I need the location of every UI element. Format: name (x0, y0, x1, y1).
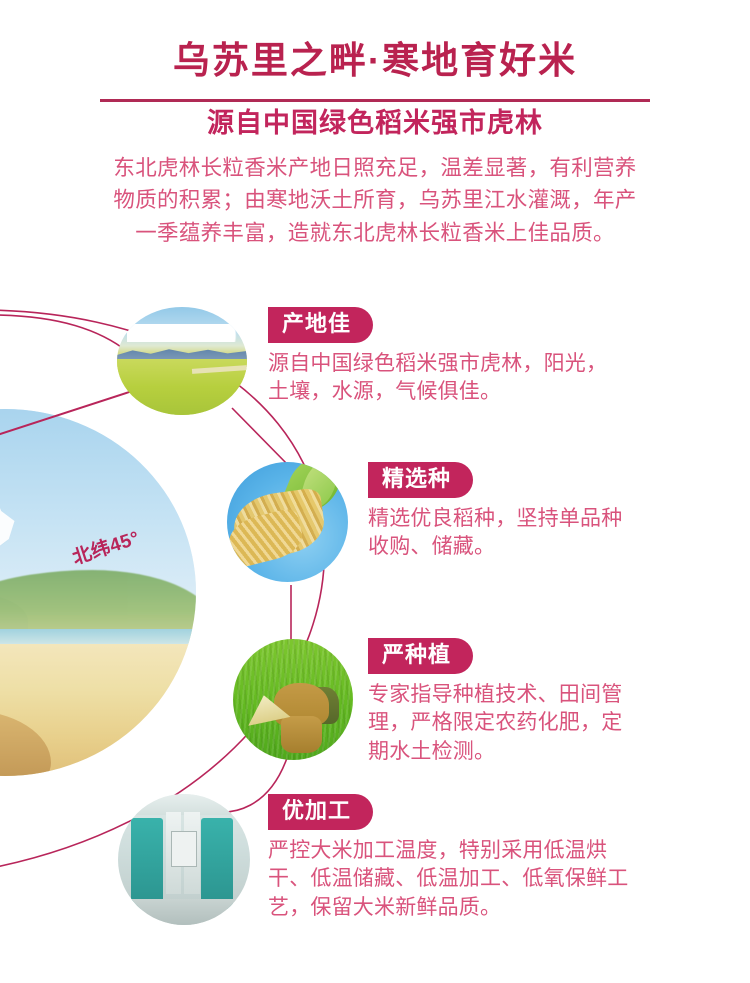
connector-photo1-photo2 (232, 408, 290, 467)
feature-badge-planting: 严种植 (368, 638, 473, 674)
feature-badge-origin: 产地佳 (268, 307, 373, 343)
feature-block-seed: 精选种 精选优良稻种，坚持单品种 收购、储藏。 (368, 462, 622, 562)
intro-line-2: 物质的积累；由寒地沃土所育，乌苏里江水灌溉，年产 (58, 184, 692, 217)
page-subtitle: 源自中国绿色稻米强市虎林 (0, 101, 750, 140)
title-divider (100, 99, 650, 102)
photo-rice-ear (227, 462, 348, 582)
page-title: 乌苏里之畔·寒地育好米 (0, 40, 750, 83)
floor-layer (118, 899, 250, 925)
header-section: 乌苏里之畔·寒地育好米 源自中国绿色稻米强市虎林 东北虎林长粒香米产地日照充足，… (0, 0, 750, 250)
feature-text-line: 艺，保留大米新鲜品质。 (268, 894, 628, 923)
feature-text-line: 严控大米加工温度，特别采用低温烘 (268, 837, 628, 866)
feature-block-planting: 严种植 专家指导种植技术、田间管 理，严格限定农药化肥，定 期水土检测。 (368, 638, 622, 766)
product-detail-page: 乌苏里之畔·寒地育好米 源自中国绿色稻米强市虎林 东北虎林长粒香米产地日照充足，… (0, 0, 750, 983)
photo-rice-paddy-landscape (117, 307, 247, 415)
intro-line-3: 一季蕴养丰富，造就东北虎林长粒香米上佳品质。 (58, 217, 692, 250)
feature-badge-processing: 优加工 (268, 794, 373, 830)
feature-text-seed: 精选优良稻种，坚持单品种 收购、储藏。 (368, 505, 622, 562)
machine-column-2 (201, 818, 233, 910)
arc-spur-to-photo-1 (0, 315, 128, 352)
feature-text-line: 期水土检测。 (368, 738, 622, 767)
intro-line-1: 东北虎林长粒香米产地日照充足，温差显著，有利营养 (58, 152, 692, 185)
farmer-legs (281, 716, 322, 752)
photo-farmer-planting (233, 639, 353, 760)
feature-block-origin: 产地佳 源自中国绿色稻米强市虎林，阳光， 土壤，水源，气候俱佳。 (268, 307, 607, 407)
feature-text-line: 土壤，水源，气候俱佳。 (268, 378, 607, 407)
feature-text-line: 收购、储藏。 (368, 533, 622, 562)
feature-text-line: 源自中国绿色稻米强市虎林，阳光， (268, 350, 607, 379)
photo-processing-machinery (118, 794, 250, 925)
feature-block-processing: 优加工 严控大米加工温度，特别采用低温烘 干、低温储藏、低温加工、低氧保鲜工 艺… (268, 794, 628, 922)
feature-text-line: 干、低温储藏、低温加工、低氧保鲜工 (268, 865, 628, 894)
intro-paragraph: 东北虎林长粒香米产地日照充足，温差显著，有利营养 物质的积累；由寒地沃土所育，乌… (0, 152, 750, 250)
cloud-layer (127, 324, 236, 341)
control-panel (171, 831, 197, 867)
feature-badge-seed: 精选种 (368, 462, 473, 498)
feature-text-processing: 严控大米加工温度，特别采用低温烘 干、低温储藏、低温加工、低氧保鲜工 艺，保留大… (268, 837, 628, 923)
feature-text-line: 理，严格限定农药化肥，定 (368, 709, 622, 738)
feature-text-origin: 源自中国绿色稻米强市虎林，阳光， 土壤，水源，气候俱佳。 (268, 350, 607, 407)
feature-text-planting: 专家指导种植技术、田间管 理，严格限定农药化肥，定 期水土检测。 (368, 681, 622, 767)
feature-text-line: 精选优良稻种，坚持单品种 (368, 505, 622, 534)
machine-column-1 (131, 818, 163, 910)
feature-text-line: 专家指导种植技术、田间管 (368, 681, 622, 710)
